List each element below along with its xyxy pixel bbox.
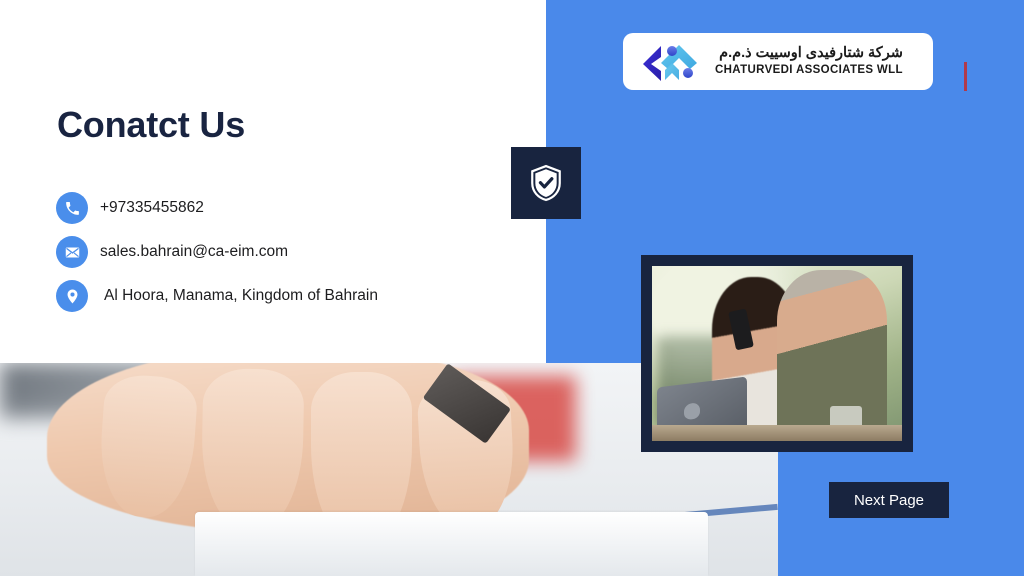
logo-text-block: شركة شتارفيدى اوسييت ذ.م.م CHATURVEDI AS…: [715, 45, 903, 77]
keyboard: [195, 512, 708, 576]
contact-row-email[interactable]: sales.bahrain@ca-eim.com: [56, 230, 486, 274]
slide-canvas: Conatct Us +97335455862 sales.bahrain@ca…: [0, 0, 1024, 576]
phone-number: +97335455862: [100, 199, 204, 217]
company-logo-card: شركة شتارفيدى اوسييت ذ.م.م CHATURVEDI AS…: [623, 33, 933, 90]
red-accent-line: [964, 62, 967, 91]
page-title: Conatct Us: [57, 104, 245, 146]
chevron-logo-icon: [641, 42, 703, 82]
status-badge: [511, 147, 581, 219]
contact-list: +97335455862 sales.bahrain@ca-eim.com Al…: [56, 186, 486, 318]
next-page-button[interactable]: Next Page: [829, 482, 949, 518]
photo-table-edge: [652, 425, 902, 441]
contact-row-phone[interactable]: +97335455862: [56, 186, 486, 230]
company-name-arabic: شركة شتارفيدى اوسييت ذ.م.م: [715, 45, 903, 62]
email-address: sales.bahrain@ca-eim.com: [100, 243, 288, 261]
couple-photo: [652, 266, 902, 441]
map-pin-icon: [56, 280, 88, 312]
contact-row-address[interactable]: Al Hoora, Manama, Kingdom of Bahrain: [56, 274, 486, 318]
phone-icon: [56, 192, 88, 224]
shield-check-icon: [528, 164, 564, 202]
couple-photo-frame: [641, 255, 913, 452]
company-name-english: CHATURVEDI ASSOCIATES WLL: [715, 64, 903, 78]
envelope-icon: [56, 236, 88, 268]
postal-address: Al Hoora, Manama, Kingdom of Bahrain: [104, 287, 378, 305]
